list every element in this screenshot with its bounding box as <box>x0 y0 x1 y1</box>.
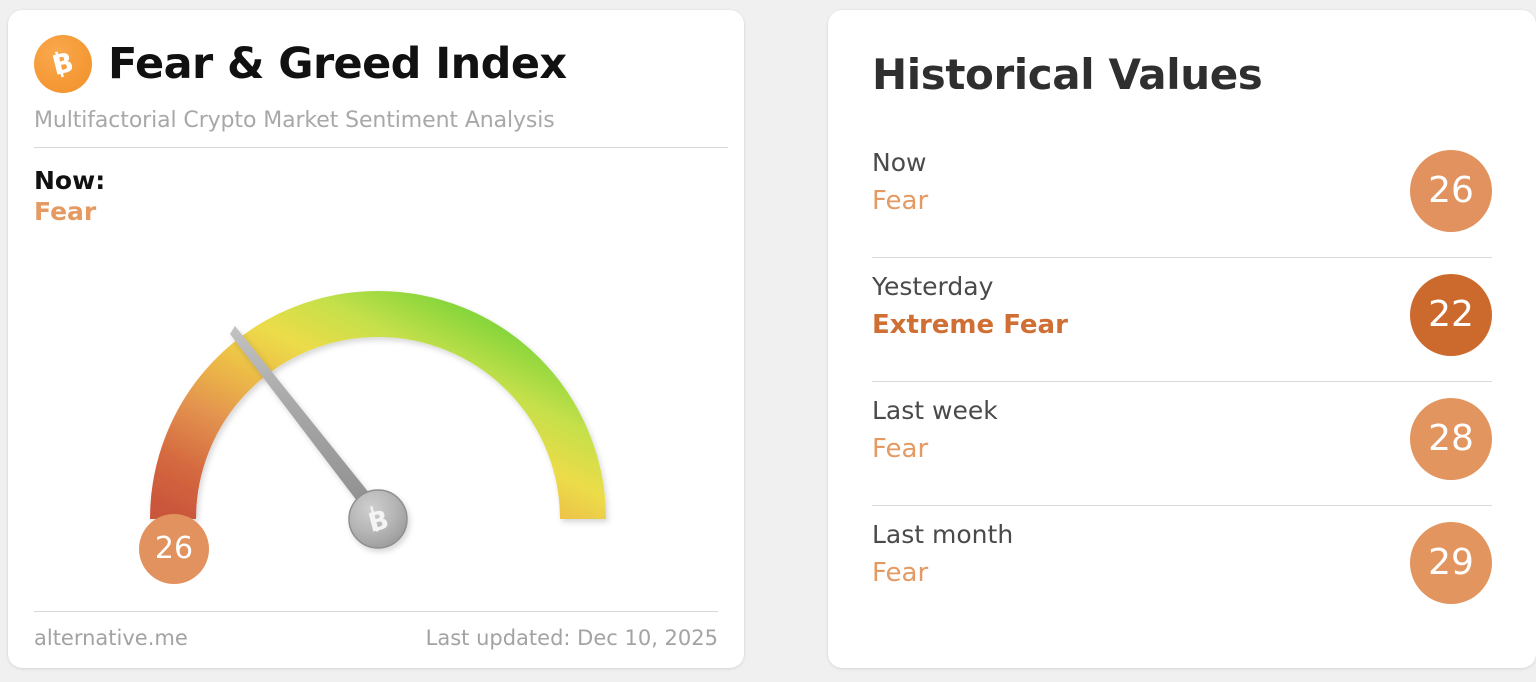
card-header: B Fear & Greed Index <box>34 34 718 94</box>
last-updated-text: Last updated: Dec 10, 2025 <box>426 626 718 650</box>
now-block: Now: Fear <box>34 166 718 227</box>
historical-values-list: Now Fear 26 Yesterday Extreme Fear 22 La… <box>872 134 1492 630</box>
history-classification: Extreme Fear <box>872 309 1492 343</box>
history-classification: Fear <box>872 185 1492 219</box>
page-title: Fear & Greed Index <box>108 43 567 86</box>
gauge-hub: B <box>349 490 407 548</box>
history-value-badge: 22 <box>1410 274 1492 356</box>
historical-values-title: Historical Values <box>872 54 1492 96</box>
gauge-value-badge: 26 <box>139 514 209 584</box>
header-divider <box>34 147 728 148</box>
list-item: Yesterday Extreme Fear 22 <box>872 258 1492 382</box>
history-classification: Fear <box>872 557 1492 591</box>
bitcoin-icon: B <box>34 35 92 93</box>
gauge-chart: B 26 <box>34 231 728 561</box>
history-period-label: Last month <box>872 519 1492 550</box>
fear-greed-widget: B Fear & Greed Index Multifactorial Cryp… <box>0 0 1536 682</box>
history-value-badge: 28 <box>1410 398 1492 480</box>
now-label: Now: <box>34 166 718 197</box>
list-item: Last month Fear 29 <box>872 506 1492 630</box>
source-link[interactable]: alternative.me <box>34 626 188 650</box>
history-value-badge: 29 <box>1410 522 1492 604</box>
gauge-svg: B <box>118 231 638 561</box>
history-value-badge: 26 <box>1410 150 1492 232</box>
list-item: Last week Fear 28 <box>872 382 1492 506</box>
history-period-label: Now <box>872 147 1492 178</box>
history-period-label: Last week <box>872 395 1492 426</box>
card-footer: alternative.me Last updated: Dec 10, 202… <box>34 611 718 650</box>
gauge-needle <box>230 326 382 518</box>
card-subtitle: Multifactorial Crypto Market Sentiment A… <box>34 108 718 133</box>
list-item: Now Fear 26 <box>872 134 1492 258</box>
now-classification: Fear <box>34 197 718 228</box>
history-classification: Fear <box>872 433 1492 467</box>
fear-greed-index-card: B Fear & Greed Index Multifactorial Cryp… <box>8 10 744 668</box>
footer-divider <box>34 611 718 612</box>
history-period-label: Yesterday <box>872 271 1492 302</box>
historical-values-card: Historical Values Now Fear 26 Yesterday … <box>828 10 1536 668</box>
